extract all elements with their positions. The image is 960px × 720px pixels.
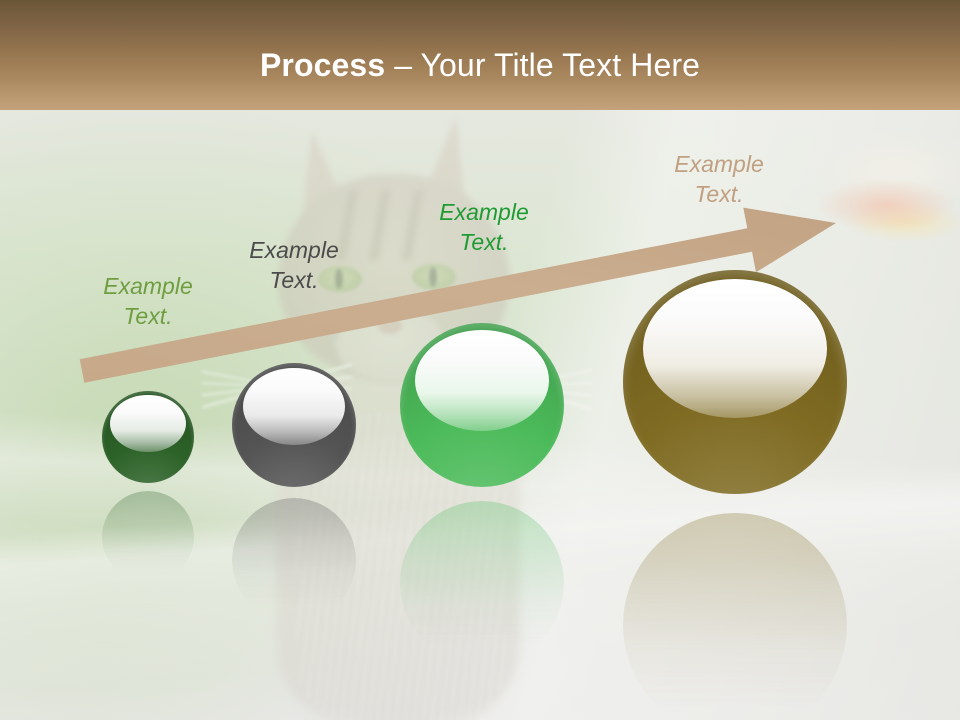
sphere-highlight-icon: [415, 330, 549, 432]
step-label-4: ExampleText.: [609, 150, 829, 210]
step-label-line-1: Example: [609, 150, 829, 180]
page-title: Process – Your Title Text Here: [0, 0, 960, 84]
step-label-line-2: Text.: [38, 302, 258, 332]
step-label-line-1: Example: [184, 236, 404, 266]
reflection-step-3: [400, 501, 564, 665]
reflection-step-4: [623, 513, 847, 720]
step-label-line-2: Text.: [609, 180, 829, 210]
sphere-highlight-icon: [643, 279, 827, 418]
sphere-highlight-icon: [110, 395, 185, 452]
reflection-step-2: [232, 498, 356, 622]
step-label-line-2: Text.: [184, 266, 404, 296]
step-label-line-2: Text.: [374, 228, 594, 258]
slide-canvas: ExampleText. ExampleText. ExampleText. E…: [0, 0, 960, 720]
step-label-3: ExampleText.: [374, 198, 594, 258]
page-title-rest: Your Title Text Here: [421, 47, 700, 83]
sphere-step-1[interactable]: [102, 391, 194, 483]
reflection-step-1: [102, 491, 194, 583]
sphere-step-3[interactable]: [400, 323, 564, 487]
step-label-2: ExampleText.: [184, 236, 404, 296]
page-title-strong: Process: [260, 47, 385, 83]
title-bar: Process – Your Title Text Here: [0, 0, 960, 110]
step-label-line-1: Example: [374, 198, 594, 228]
sphere-step-2[interactable]: [232, 363, 356, 487]
sphere-highlight-icon: [243, 368, 345, 445]
page-title-dash: –: [385, 47, 420, 83]
sphere-step-4[interactable]: [623, 270, 847, 494]
